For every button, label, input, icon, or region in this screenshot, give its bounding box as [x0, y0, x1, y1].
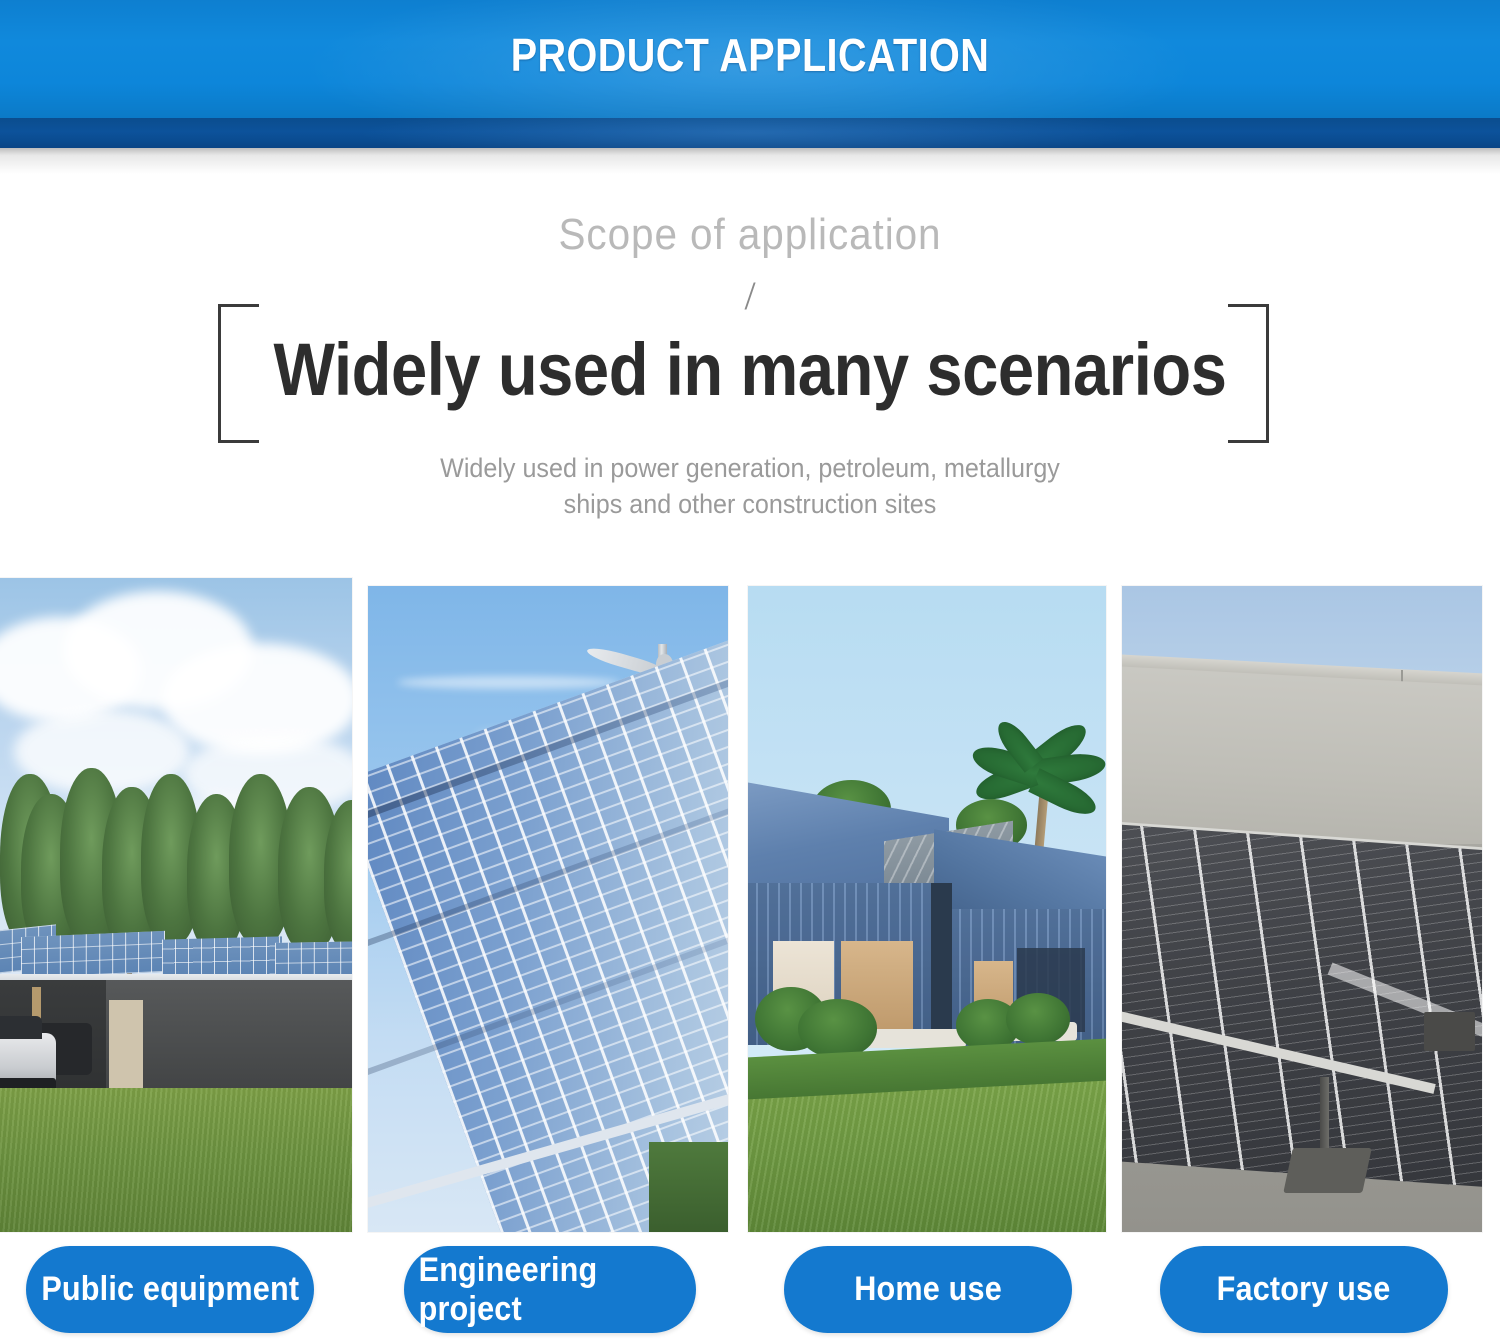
scene-solar-array-wind-turbine [368, 586, 728, 1232]
solar-panel-array [275, 941, 352, 978]
banner-drop-shadow [0, 148, 1500, 174]
label-pill-public-equipment[interactable]: Public equipment [26, 1246, 314, 1333]
subtitle-line-2: ships and other construction sites [53, 486, 1448, 522]
photo-panel-factory-use [1122, 586, 1482, 1232]
pill-label: Engineering project [419, 1251, 682, 1329]
lawn-layer [0, 1088, 352, 1232]
scene-modern-house [748, 586, 1106, 1232]
label-pill-factory-use[interactable]: Factory use [1160, 1246, 1448, 1333]
garden-bush [798, 999, 877, 1057]
ground-foliage [649, 1142, 728, 1232]
car-cabin [0, 1016, 42, 1039]
solar-panel-array [21, 931, 165, 978]
photo-panel-engineering-project [368, 586, 728, 1232]
pill-label: Home use [854, 1270, 1002, 1309]
subtitle-line-1: Widely used in power generation, petrole… [53, 450, 1448, 486]
section-headline: Widely used in many scenarios [90, 322, 1410, 418]
pill-label: Factory use [1217, 1270, 1391, 1309]
scene-factory-rooftop-solar [1122, 586, 1482, 1232]
product-application-banner: PRODUCT APPLICATION [0, 0, 1500, 118]
photo-panel-public-equipment [0, 578, 352, 1232]
solar-panel-array [162, 936, 282, 977]
scene-solar-carport [0, 578, 352, 1232]
banner-title: PRODUCT APPLICATION [105, 28, 1395, 82]
ballast-block [1283, 1148, 1372, 1193]
pill-label: Public equipment [41, 1270, 299, 1309]
headline-block: Widely used in many scenarios [0, 300, 1500, 445]
label-pill-engineering-project[interactable]: Engineering project [404, 1246, 696, 1333]
building-door [109, 1000, 142, 1095]
label-pill-home-use[interactable]: Home use [784, 1246, 1072, 1333]
banner-band-highlight [0, 118, 1500, 148]
entry-step [866, 1029, 966, 1048]
section-subtitle: Widely used in power generation, petrole… [53, 450, 1448, 522]
application-photo-grid [0, 575, 1500, 1237]
banner-dark-band [0, 118, 1500, 148]
photo-panel-home-use [748, 586, 1106, 1232]
roof-equipment [1424, 1012, 1474, 1051]
garden-bush [1006, 993, 1070, 1045]
section-eyebrow: Scope of application [60, 210, 1440, 260]
house-recess [931, 883, 952, 1045]
